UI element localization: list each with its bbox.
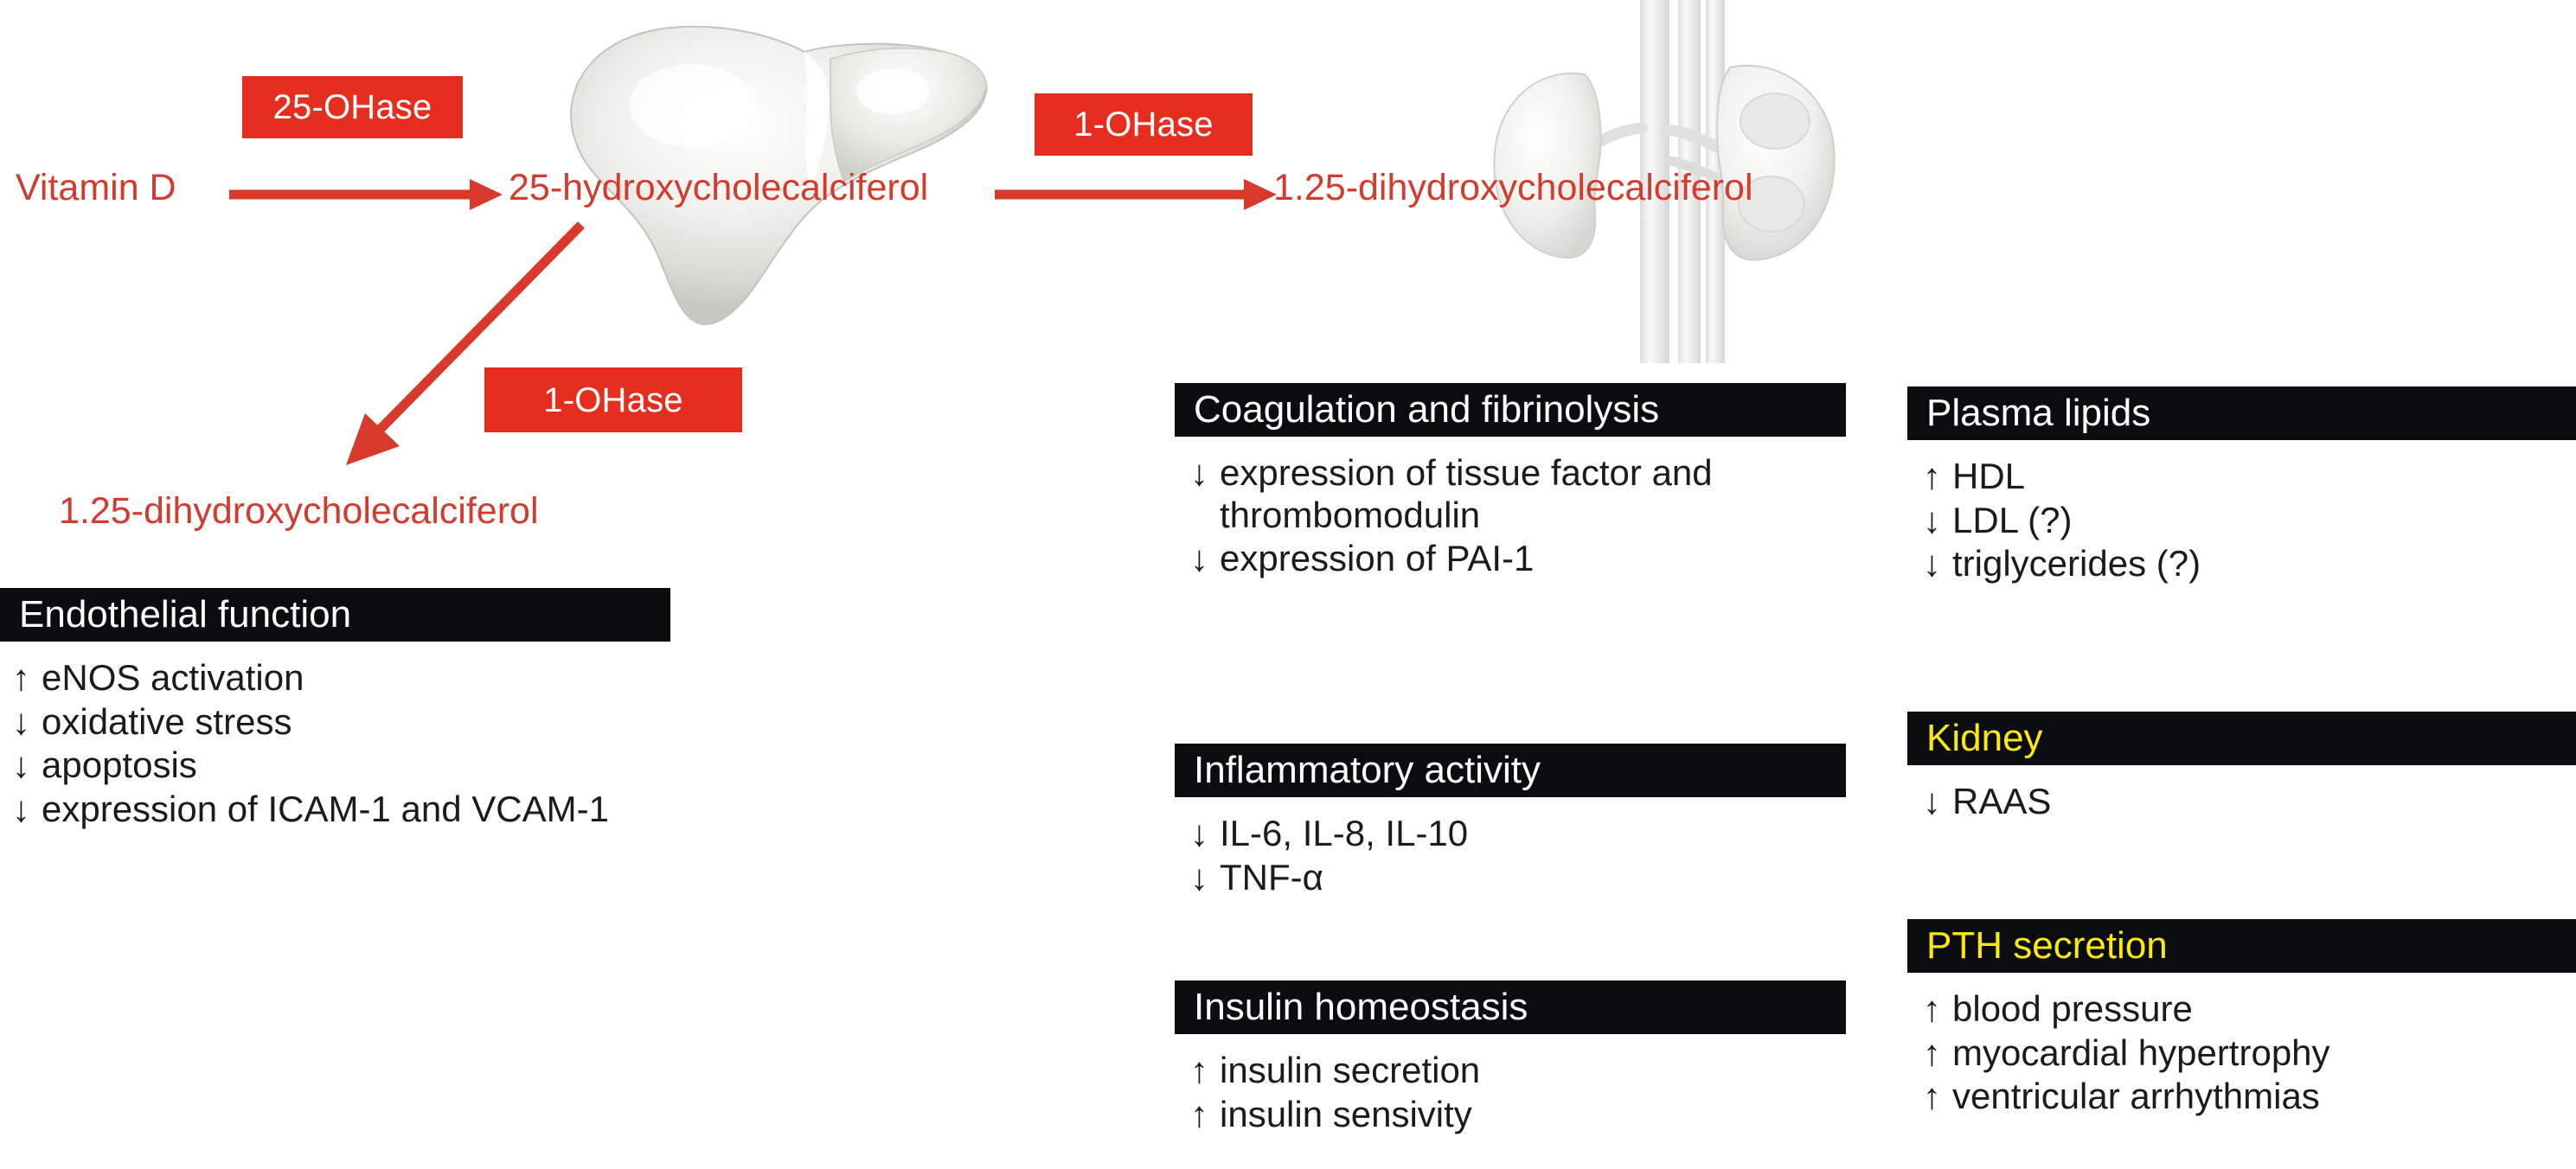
list-item-label: blood pressure	[1952, 988, 2193, 1031]
pathway-label-125-dihydroxycholecalciferol-kidney: 1.25-dihydroxycholecalciferol	[1273, 169, 1753, 207]
diagram-canvas: Vitamin D 25-OHase 25-hydroxycholecalcif…	[0, 0, 2576, 1169]
panel-insulin-homeostasis: Insulin homeostasis ↑ insulin secretion …	[1175, 981, 1846, 1137]
direction-arrow-icon: ↑	[1190, 1094, 1220, 1136]
list-item-label: expression of tissue factor and thrombom…	[1220, 452, 1796, 536]
list-item: ↓ triglycerides (?)	[1923, 543, 2576, 585]
list-item-label: ventricular arrhythmias	[1952, 1076, 2320, 1118]
panel-header-insulin-homeostasis: Insulin homeostasis	[1175, 981, 1846, 1034]
direction-arrow-icon: ↑	[1190, 1050, 1220, 1092]
list-item: ↓ expression of ICAM-1 and VCAM-1	[12, 789, 670, 831]
direction-arrow-icon: ↓	[1190, 857, 1220, 899]
direction-arrow-icon: ↓	[1923, 500, 1952, 542]
list-item: ↓ RAAS	[1923, 781, 2576, 823]
panel-items-kidney: ↓ RAAS	[1907, 765, 2576, 823]
panel-kidney: Kidney ↓ RAAS	[1907, 712, 2576, 825]
panel-items-endothelial-function: ↑ eNOS activation ↓ oxidative stress ↓ a…	[0, 642, 670, 831]
panel-items-inflammatory: ↓ IL-6, IL-8, IL-10 ↓ TNF-α	[1175, 797, 1846, 898]
panel-plasma-lipids: Plasma lipids ↑ HDL ↓ LDL (?) ↓ triglyce…	[1907, 386, 2576, 587]
arrow-vitamind-to-25oh	[229, 177, 506, 212]
list-item-label: LDL (?)	[1952, 500, 2073, 542]
list-item: ↑ myocardial hypertrophy	[1923, 1032, 2576, 1075]
pathway-label-vitamin-d: Vitamin D	[16, 169, 176, 207]
list-item-label: expression of ICAM-1 and VCAM-1	[42, 789, 609, 831]
panel-header-inflammatory-activity: Inflammatory activity	[1175, 744, 1846, 797]
enzyme-box-1-ohase-kidney[interactable]: 1-OHase	[1035, 93, 1253, 156]
list-item-label: expression of PAI-1	[1220, 538, 1534, 580]
panel-title: Coagulation and fibrinolysis	[1194, 391, 1659, 429]
list-item-label: myocardial hypertrophy	[1952, 1032, 2330, 1075]
list-item: ↓ expression of tissue factor and thromb…	[1190, 452, 1796, 536]
list-item: ↑ insulin secretion	[1190, 1050, 1846, 1092]
list-item-label: insulin sensivity	[1220, 1094, 1472, 1136]
list-item: ↑ HDL	[1923, 456, 2576, 498]
panel-title: Inflammatory activity	[1194, 751, 1541, 789]
list-item-label: insulin secretion	[1220, 1050, 1480, 1092]
pathway-label-25-hydroxycholecalciferol: 25-hydroxycholecalciferol	[509, 169, 928, 207]
list-item-label: apoptosis	[42, 744, 197, 787]
list-item-label: eNOS activation	[42, 657, 304, 699]
list-item-label: oxidative stress	[42, 701, 292, 744]
panel-header-endothelial-function: Endothelial function	[0, 588, 670, 642]
arrow-25oh-to-125-kidney	[995, 177, 1280, 212]
panel-title: Insulin homeostasis	[1194, 988, 1528, 1026]
panel-pth-secretion: PTH secretion ↑ blood pressure ↑ myocard…	[1907, 919, 2576, 1120]
direction-arrow-icon: ↑	[1923, 456, 1952, 498]
list-item: ↓ LDL (?)	[1923, 500, 2576, 542]
list-item-label: TNF-α	[1220, 857, 1323, 899]
direction-arrow-icon: ↑	[12, 657, 42, 699]
direction-arrow-icon: ↑	[1923, 1076, 1952, 1118]
panel-header-kidney: Kidney	[1907, 712, 2576, 765]
panel-header-plasma-lipids: Plasma lipids	[1907, 386, 2576, 440]
panel-items-insulin: ↑ insulin secretion ↑ insulin sensivity	[1175, 1034, 1846, 1135]
list-item-label: RAAS	[1952, 781, 2051, 823]
direction-arrow-icon: ↓	[1923, 781, 1952, 823]
panel-title: PTH secretion	[1926, 927, 2168, 965]
panel-items-coagulation: ↓ expression of tissue factor and thromb…	[1175, 437, 1796, 580]
direction-arrow-icon: ↓	[1190, 538, 1220, 580]
panel-endothelial-function: Endothelial function ↑ eNOS activation ↓…	[0, 588, 670, 833]
list-item: ↓ TNF-α	[1190, 857, 1846, 899]
direction-arrow-icon: ↑	[1923, 1032, 1952, 1075]
enzyme-box-25-ohase[interactable]: 25-OHase	[242, 76, 463, 138]
list-item: ↑ insulin sensivity	[1190, 1094, 1846, 1136]
panel-items-plasma-lipids: ↑ HDL ↓ LDL (?) ↓ triglycerides (?)	[1907, 440, 2576, 585]
direction-arrow-icon: ↓	[1190, 813, 1220, 855]
direction-arrow-icon: ↑	[1923, 988, 1952, 1031]
panel-inflammatory-activity: Inflammatory activity ↓ IL-6, IL-8, IL-1…	[1175, 744, 1846, 900]
list-item: ↑ ventricular arrhythmias	[1923, 1076, 2576, 1118]
panel-title: Endothelial function	[19, 596, 351, 634]
list-item: ↑ eNOS activation	[12, 657, 670, 699]
panel-header-coagulation-and-fibrinolysis: Coagulation and fibrinolysis	[1175, 383, 1846, 437]
list-item-label: IL-6, IL-8, IL-10	[1220, 813, 1468, 855]
list-item: ↓ IL-6, IL-8, IL-10	[1190, 813, 1846, 855]
panel-header-pth-secretion: PTH secretion	[1907, 919, 2576, 973]
direction-arrow-icon: ↓	[12, 789, 42, 831]
direction-arrow-icon: ↓	[12, 701, 42, 744]
direction-arrow-icon: ↓	[1923, 543, 1952, 585]
panel-title: Kidney	[1926, 719, 2043, 757]
list-item-label: HDL	[1952, 456, 2025, 498]
panel-coagulation-and-fibrinolysis: Coagulation and fibrinolysis ↓ expressio…	[1175, 383, 1846, 582]
pathway-label-125-dihydroxycholecalciferol-extrarenal: 1.25-dihydroxycholecalciferol	[59, 493, 539, 530]
list-item: ↑ blood pressure	[1923, 988, 2576, 1031]
list-item-label: triglycerides (?)	[1952, 543, 2201, 585]
arrow-25oh-to-125-extrarenal	[320, 216, 597, 476]
list-item: ↓ apoptosis	[12, 744, 670, 787]
list-item: ↓ expression of PAI-1	[1190, 538, 1796, 580]
panel-items-pth: ↑ blood pressure ↑ myocardial hypertroph…	[1907, 973, 2576, 1118]
direction-arrow-icon: ↓	[1190, 452, 1220, 495]
panel-title: Plasma lipids	[1926, 394, 2150, 432]
list-item: ↓ oxidative stress	[12, 701, 670, 744]
direction-arrow-icon: ↓	[12, 744, 42, 787]
